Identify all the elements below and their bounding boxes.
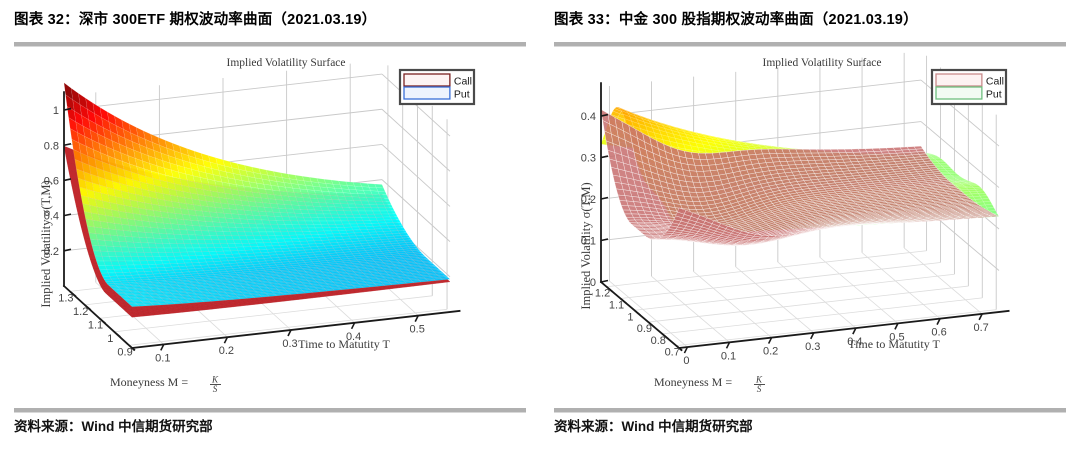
y-tick-label: 1.3 [58, 292, 73, 304]
svg-text:K: K [755, 375, 763, 385]
legend-label-call: Call [986, 76, 1004, 88]
svg-text:S: S [213, 384, 218, 394]
y-tick-label: 1.2 [73, 306, 88, 318]
title-divider-left [14, 42, 526, 46]
x-tick-label: 0.3 [805, 341, 820, 353]
x-tick-label: 0.2 [219, 345, 234, 357]
y-tick-label: 0.8 [651, 335, 666, 347]
plot-surfaces [601, 107, 999, 245]
x-tick-label: 0.5 [410, 324, 425, 336]
y-tick-label: 0.7 [665, 347, 680, 359]
y-tick-label: 1.1 [88, 319, 103, 331]
title-divider-right [554, 42, 1066, 46]
z-tick-label: 0.8 [44, 140, 59, 152]
chart-left: 0.20.40.60.811.31.21.110.90.10.20.30.40.… [14, 48, 526, 404]
svg-text:Moneyness M =: Moneyness M = [110, 375, 188, 389]
svg-text:K: K [211, 375, 219, 385]
chart-right: 00.10.20.30.41.21.110.90.80.700.10.20.30… [554, 48, 1066, 404]
chart-legend[interactable]: CallPut [932, 70, 1006, 104]
y-tick-label: 0.9 [637, 323, 652, 335]
legend-label-call: Call [454, 76, 472, 88]
figure-title-33: 图表 33：中金 300 股指期权波动率曲面（2021.03.19） [554, 8, 918, 29]
x-tick-label: 0 [683, 355, 689, 367]
y-axis-label: Moneyness M =KS [110, 375, 221, 395]
source-note-left: 资料来源：Wind 中信期货研究部 [14, 415, 213, 435]
y-tick-label: 1.1 [609, 300, 624, 312]
x-tick-label: 0.1 [155, 352, 170, 364]
source-divider-left [14, 408, 526, 412]
legend-swatch-call [404, 74, 450, 86]
y-axis-label: Moneyness M =KS [654, 375, 765, 395]
svg-text:Moneyness M =: Moneyness M = [654, 375, 732, 389]
svg-text:S: S [757, 384, 762, 394]
surface-put [64, 83, 450, 307]
plot-title: Implied Volatility Surface [226, 57, 345, 69]
figure-panel-33: 图表 33：中金 300 股指期权波动率曲面（2021.03.19） 00.10… [554, 0, 1066, 452]
legend-swatch-put [404, 87, 450, 99]
figure-panel-32: 图表 32：深市 300ETF 期权波动率曲面（2021.03.19） 0.20… [14, 0, 526, 452]
source-divider-right [554, 408, 1066, 412]
x-tick-label: 0.3 [282, 338, 297, 350]
y-tick-label: 1 [627, 311, 633, 323]
z-axis-label: Implied Volatility σ(T,M) [39, 180, 53, 307]
z-tick-label: 0.3 [581, 153, 596, 165]
legend-swatch-put [936, 87, 982, 99]
x-tick-label: 0.2 [763, 346, 778, 358]
y-tick-label: 1.2 [595, 288, 610, 300]
figure-title-32: 图表 32：深市 300ETF 期权波动率曲面（2021.03.19） [14, 8, 376, 29]
x-axis-label: Time to Matutity T [298, 337, 390, 351]
x-axis-label: Time to Matutity T [848, 337, 940, 351]
source-note-right: 资料来源：Wind 中信期货研究部 [554, 415, 753, 435]
legend-label-put: Put [454, 89, 470, 101]
legend-swatch-call [936, 74, 982, 86]
z-axis-label: Implied Volatility σ(T,M) [579, 182, 593, 309]
x-tick-label: 0.1 [721, 350, 736, 362]
x-tick-label: 0.7 [974, 322, 989, 334]
y-tick-label: 0.9 [117, 346, 132, 358]
legend-label-put: Put [986, 89, 1002, 101]
y-tick-label: 1 [107, 333, 113, 345]
chart-legend[interactable]: CallPut [400, 70, 474, 104]
plot-title: Implied Volatility Surface [762, 57, 881, 69]
figure-page: 图表 32：深市 300ETF 期权波动率曲面（2021.03.19） 0.20… [0, 0, 1080, 452]
z-tick-label: 0.4 [581, 111, 596, 123]
z-tick-label: 1 [53, 105, 59, 117]
